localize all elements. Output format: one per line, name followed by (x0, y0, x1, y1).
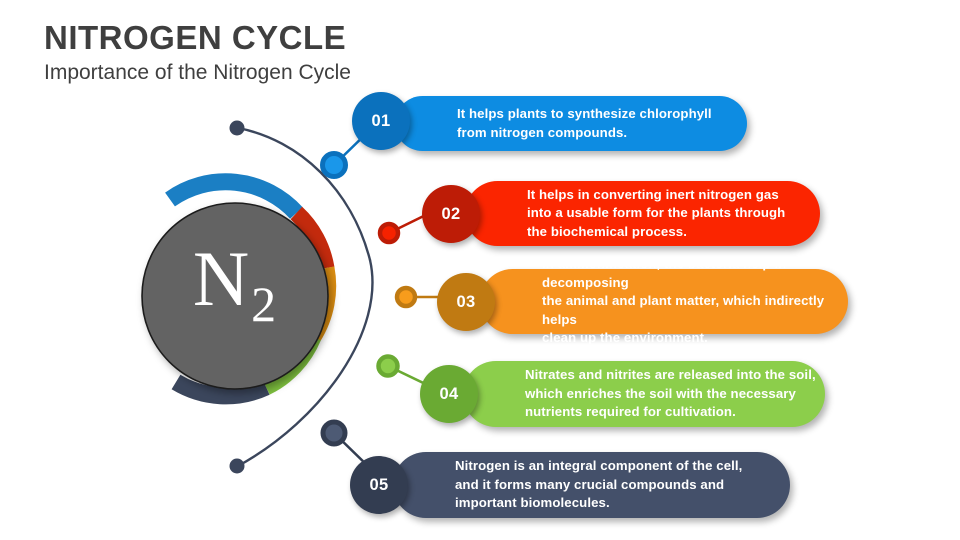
item-text-03: In ammonification, the bacteria help in … (542, 255, 848, 348)
item-bar-03[interactable]: In ammonification, the bacteria help in … (480, 269, 848, 334)
item-badge-03[interactable]: 03 (437, 273, 495, 331)
item-bar-05[interactable]: Nitrogen is an integral component of the… (393, 452, 790, 518)
item-badge-02[interactable]: 02 (422, 185, 480, 243)
item-text-01: It helps plants to synthesize chlorophyl… (457, 105, 712, 142)
item-bar-02[interactable]: It helps in converting inert nitrogen ga… (465, 181, 820, 246)
item-number-04: 04 (440, 385, 459, 404)
nitrogen-disc (142, 203, 328, 389)
item-number-01: 01 (372, 112, 391, 131)
slide-canvas: NITROGEN CYCLE Importance of the Nitroge… (0, 0, 960, 540)
item-number-05: 05 (370, 476, 389, 495)
item-badge-01[interactable]: 01 (352, 92, 410, 150)
node-dot-05[interactable] (323, 422, 345, 444)
item-text-05: Nitrogen is an integral component of the… (455, 457, 742, 513)
node-dot-03[interactable] (397, 288, 415, 306)
node-dot-02[interactable] (380, 224, 398, 242)
item-text-02: It helps in converting inert nitrogen ga… (527, 186, 785, 242)
item-number-03: 03 (457, 293, 476, 312)
item-text-04: Nitrates and nitrites are released into … (525, 366, 816, 422)
arc-endpoint-dot-top (230, 121, 245, 136)
node-dot-01[interactable] (323, 154, 346, 177)
item-bar-01[interactable]: It helps plants to synthesize chlorophyl… (395, 96, 747, 151)
item-badge-05[interactable]: 05 (350, 456, 408, 514)
item-bar-04[interactable]: Nitrates and nitrites are released into … (463, 361, 825, 427)
item-badge-04[interactable]: 04 (420, 365, 478, 423)
node-dot-04[interactable] (379, 357, 398, 376)
arc-endpoint-dot-bottom (230, 459, 245, 474)
item-number-02: 02 (442, 205, 461, 224)
